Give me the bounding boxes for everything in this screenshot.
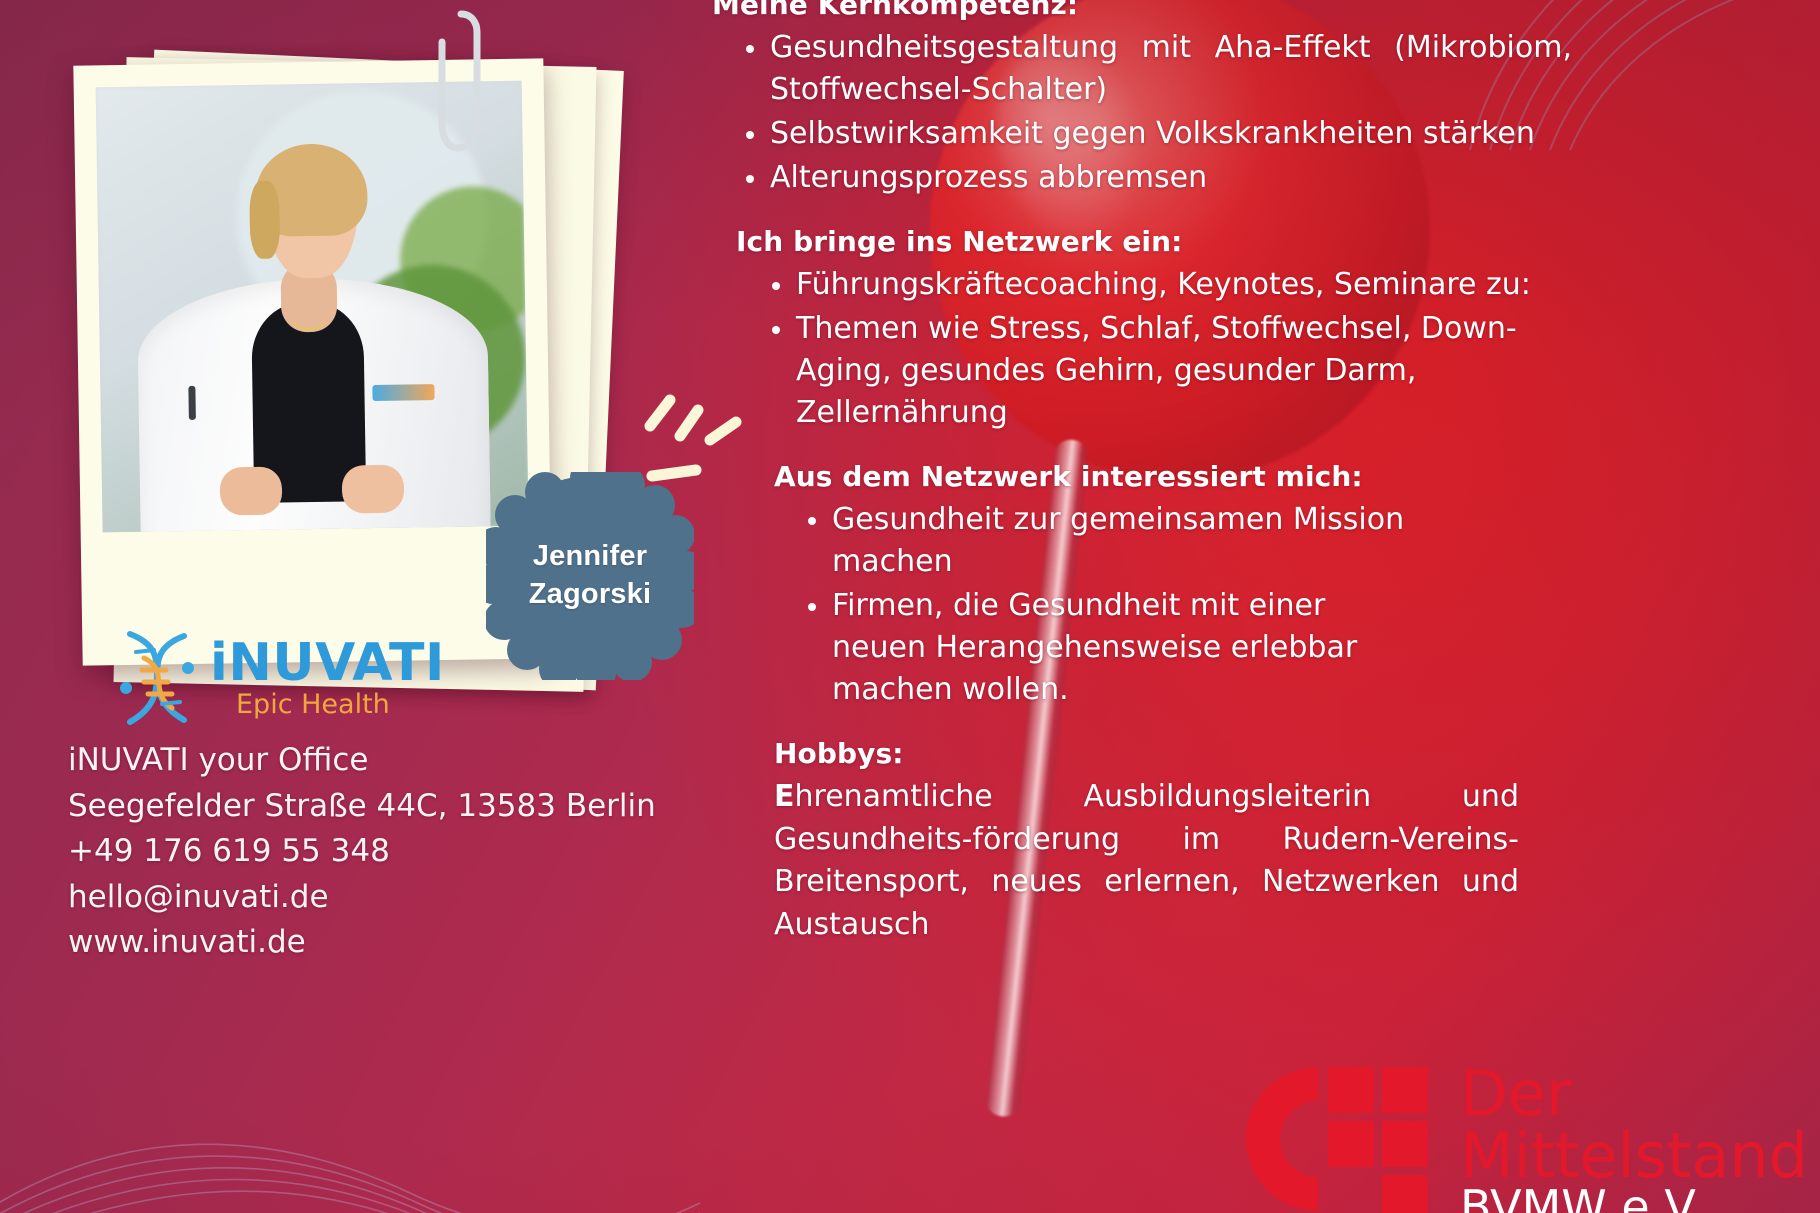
section-kernkompetenz: Meine Kernkompetenz: Gesundheitsgestaltu… (712, 0, 1572, 199)
dna-helix-icon (110, 628, 206, 728)
list-item: Firmen, die Gesundheit mit einer neuen H… (804, 585, 1424, 711)
wave-line-decoration (0, 993, 700, 1213)
logo-word-rest: NUVATI (228, 633, 444, 693)
contact-email[interactable]: hello@inuvati.de (68, 875, 656, 921)
inuvati-logo: iNUVATI Epic Health (110, 625, 460, 730)
list-item: Gesundheit zur gemeinsamen Mission mache… (804, 499, 1424, 583)
bvmw-partner-logo: Der Mittelstand. BVMW e.V. (1210, 1059, 1810, 1213)
section-netzwerk-einbringen: Ich bringe ins Netzwerk ein: Führungskrä… (712, 225, 1572, 434)
hobbys-body: hrenamtliche Ausbildungsleiterin und Ges… (774, 779, 1519, 942)
hobbys-text: Ehrenamtliche Ausbildungsleiterin und Ge… (774, 776, 1519, 946)
contact-phone[interactable]: +49 176 619 55 348 (68, 829, 656, 875)
logo-wordmark: iNUVATI (210, 637, 445, 689)
list-item: Führungskräftecoaching, Keynotes, Semina… (768, 264, 1572, 306)
bullet-list: Gesundheitsgestaltung mit Aha-Effekt (Mi… (712, 27, 1572, 199)
contact-website[interactable]: www.inuvati.de (68, 920, 656, 966)
badge-name: Jennifer Zagorski (529, 538, 651, 613)
section-heading: Aus dem Netzwerk interessiert mich: (774, 460, 1572, 493)
logo-word-i: i (210, 633, 228, 693)
section-heading: Ich bringe ins Netzwerk ein: (736, 225, 1572, 258)
list-item: Themen wie Stress, Schlaf, Stoffwechsel,… (768, 308, 1572, 434)
section-heading: Hobbys: (774, 737, 1572, 770)
name-badge: Jennifer Zagorski (486, 472, 694, 680)
section-heading: Meine Kernkompetenz: (712, 0, 1572, 21)
list-item: Alterungsprozess abbremsen (742, 157, 1572, 199)
poster-canvas: iNUVATI Epic Health Jennifer Zagorski iN… (0, 0, 1820, 1213)
contact-address: Seegefelder Straße 44C, 13583 Berlin (68, 784, 656, 830)
section-hobbys: Hobbys: Ehrenamtliche Ausbildungsleiteri… (712, 737, 1572, 946)
bullet-list: Führungskräftecoaching, Keynotes, Semina… (712, 264, 1572, 434)
list-item: Gesundheitsgestaltung mit Aha-Effekt (Mi… (742, 27, 1572, 111)
bullet-list: Gesundheit zur gemeinsamen Mission mache… (712, 499, 1424, 711)
list-item: Selbstwirksamkeit gegen Volkskrankheiten… (742, 113, 1572, 155)
section-netzwerk-interesse: Aus dem Netzwerk interessiert mich: Gesu… (712, 460, 1572, 711)
logo-tagline: Epic Health (236, 691, 445, 718)
badge-first-name: Jennifer (533, 540, 647, 572)
bvmw-line3: BVMW e.V. (1460, 1180, 1705, 1213)
badge-last-name: Zagorski (529, 578, 651, 610)
hobbys-lead-letter: E (774, 779, 795, 814)
contact-office: iNUVATI your Office (68, 738, 656, 784)
contact-block: iNUVATI your Office Seegefelder Straße 4… (68, 738, 656, 966)
paper-clip-icon (438, 8, 484, 158)
profile-content: Meine Kernkompetenz: Gesundheitsgestaltu… (712, 0, 1572, 972)
